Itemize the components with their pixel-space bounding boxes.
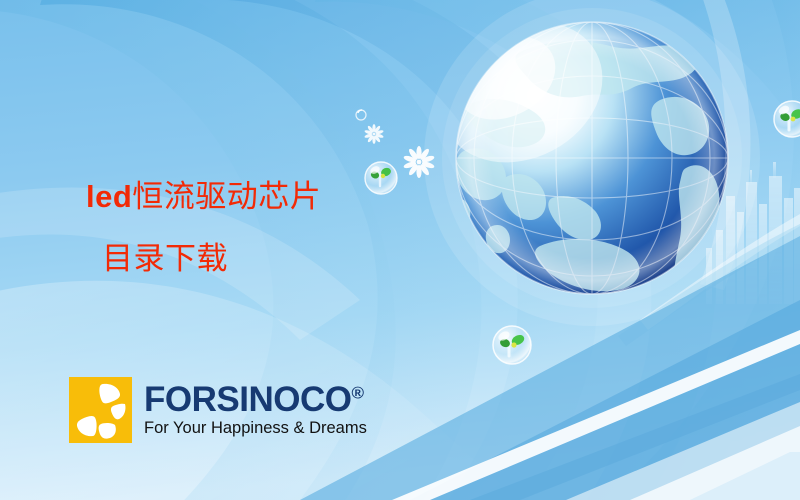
corner-stripe-blue (470, 374, 800, 500)
skyline-sweep-2 (618, 224, 800, 346)
skyline-sweep (640, 214, 800, 330)
ribbon-right-light (692, 0, 750, 290)
ribbon-swirl-5 (470, 0, 800, 250)
bubble-sprout-3 (774, 101, 800, 137)
headline-cjk: 恒流驱动芯片 (132, 179, 321, 214)
city-skyline (706, 162, 800, 304)
corner-stripe-white (392, 330, 800, 500)
headline-line2: 目录下载 (86, 228, 416, 290)
ribbon-right (640, 0, 800, 470)
slide-canvas: led恒流驱动芯片 目录下载 FORSINOCO® For Your Happi… (0, 0, 800, 500)
company-logo: FORSINOCO® For Your Happiness & Dreams (69, 377, 367, 443)
corner-band-white (566, 402, 800, 500)
forsinoco-pinwheel-mark (69, 377, 132, 443)
globe-graticule (456, 22, 728, 294)
globe-glow-inner (442, 8, 742, 308)
headline-latin: led (86, 179, 132, 214)
corner-band-blue-2 (410, 300, 800, 500)
headline-text: led恒流驱动芯片 目录下载 (86, 166, 416, 290)
brand-tagline: For Your Happiness & Dreams (144, 419, 367, 438)
bubble-sprout-2 (493, 326, 531, 364)
corner-band-white-2 (630, 426, 800, 500)
globe-landmasses (440, 41, 720, 291)
daisy-flower-small (364, 124, 384, 144)
bubble-tiny (356, 110, 366, 120)
registered-trademark-icon: ® (351, 383, 363, 402)
globe-glow (424, 0, 760, 326)
logo-wordmark-block: FORSINOCO® For Your Happiness & Dreams (144, 382, 367, 438)
earth-globe (417, 0, 728, 294)
brand-name-text: FORSINOCO (144, 380, 351, 419)
corner-band-pale (690, 452, 800, 500)
brand-name: FORSINOCO® (144, 382, 367, 417)
